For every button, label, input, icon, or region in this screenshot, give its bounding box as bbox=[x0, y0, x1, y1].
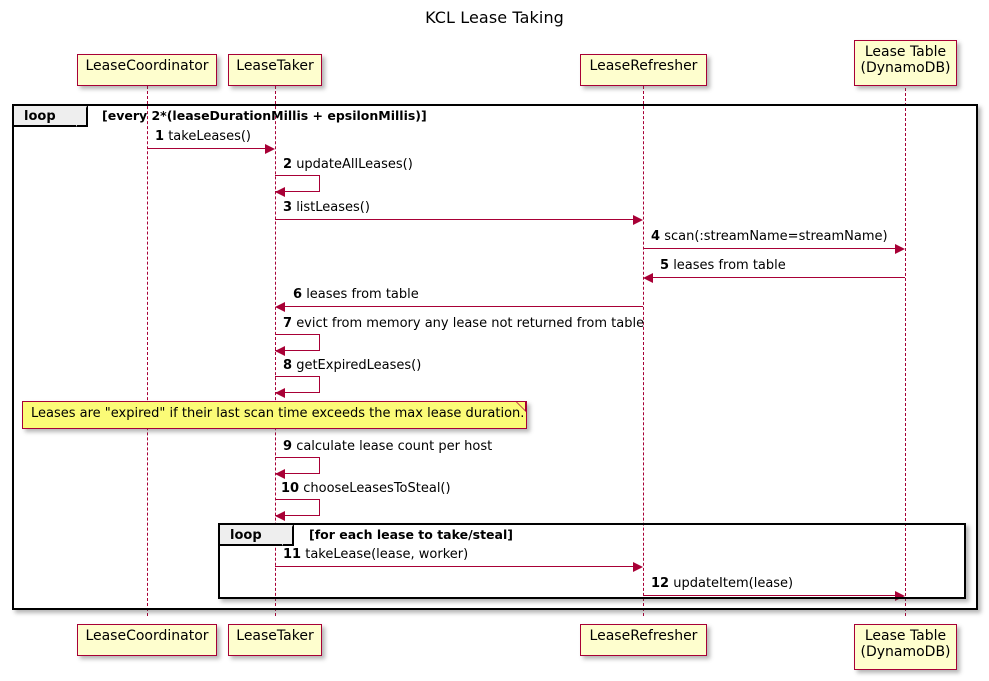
participant-lease-taker-top[interactable]: LeaseTaker bbox=[228, 54, 322, 86]
participant-lease-refresher-bottom[interactable]: LeaseRefresher bbox=[580, 624, 707, 656]
frame-inner-tab-corner-icon bbox=[282, 525, 293, 546]
note-fold-inner-icon bbox=[517, 402, 525, 410]
participant-lease-table-top[interactable]: Lease Table (DynamoDB) bbox=[854, 40, 957, 86]
expired-lease-note-text: Leases are "expired" if their last scan … bbox=[31, 406, 524, 421]
page-title: KCL Lease Taking bbox=[0, 8, 989, 27]
expired-lease-note: Leases are "expired" if their last scan … bbox=[22, 401, 527, 429]
frame-inner-loop-condition: [for each lease to take/steal] bbox=[309, 527, 513, 542]
participant-lease-taker-bottom[interactable]: LeaseTaker bbox=[228, 624, 322, 656]
frame-outer-loop-keyword: loop bbox=[24, 109, 56, 124]
participant-lease-table-bottom[interactable]: Lease Table (DynamoDB) bbox=[854, 624, 957, 670]
frame-outer-loop-condition: [every 2*(leaseDurationMillis + epsilonM… bbox=[102, 108, 427, 123]
frame-tab-corner-icon bbox=[76, 106, 87, 127]
sequence-diagram: KCL Lease Taking LeaseCoordinator LeaseT… bbox=[0, 0, 989, 681]
participant-lease-coordinator-bottom[interactable]: LeaseCoordinator bbox=[77, 624, 217, 656]
frame-outer-loop-tab: loop bbox=[14, 106, 88, 127]
frame-inner-loop-tab: loop bbox=[220, 525, 294, 546]
frame-inner-loop-keyword: loop bbox=[230, 528, 262, 543]
participant-lease-refresher-top[interactable]: LeaseRefresher bbox=[580, 54, 707, 86]
participant-lease-coordinator-top[interactable]: LeaseCoordinator bbox=[77, 54, 217, 86]
